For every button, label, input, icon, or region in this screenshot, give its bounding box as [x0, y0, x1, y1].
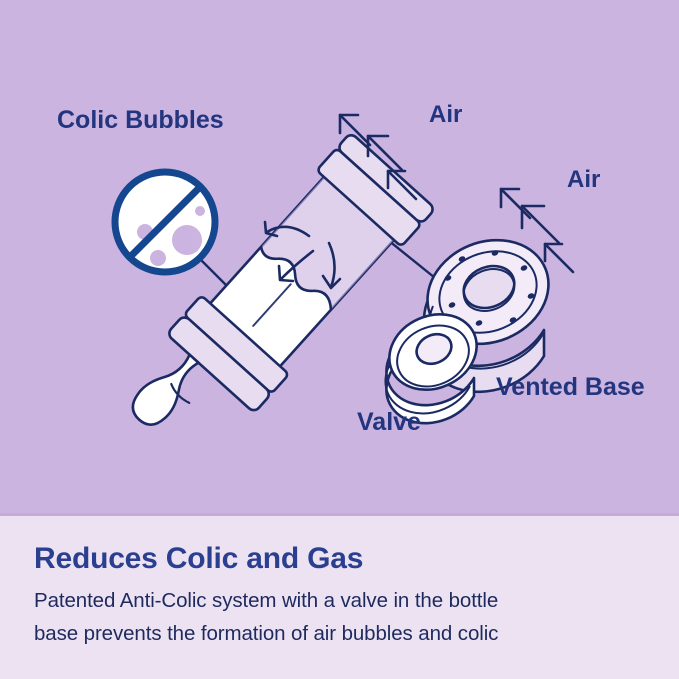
diagram-panel: Colic Bubbles Air Air Vented Base Valve — [0, 0, 679, 516]
caption-panel: Reduces Colic and Gas Patented Anti-Coli… — [0, 516, 679, 679]
caption-heading: Reduces Colic and Gas — [34, 542, 645, 576]
label-air-top: Air — [429, 103, 462, 127]
caption-body-line-2: base prevents the formation of air bubbl… — [34, 617, 645, 650]
label-valve: Valve — [357, 410, 421, 435]
caption-body-line-1: Patented Anti-Colic system with a valve … — [34, 584, 645, 617]
no-bubbles-icon — [115, 172, 215, 272]
label-colic-bubbles: Colic Bubbles — [57, 108, 224, 133]
caption-body: Patented Anti-Colic system with a valve … — [34, 584, 645, 650]
label-air-right: Air — [567, 168, 600, 192]
label-vented-base: Vented Base — [496, 375, 645, 400]
anti-colic-bottle-illustration — [0, 0, 679, 516]
product-feature-card: Colic Bubbles Air Air Vented Base Valve … — [0, 0, 679, 679]
